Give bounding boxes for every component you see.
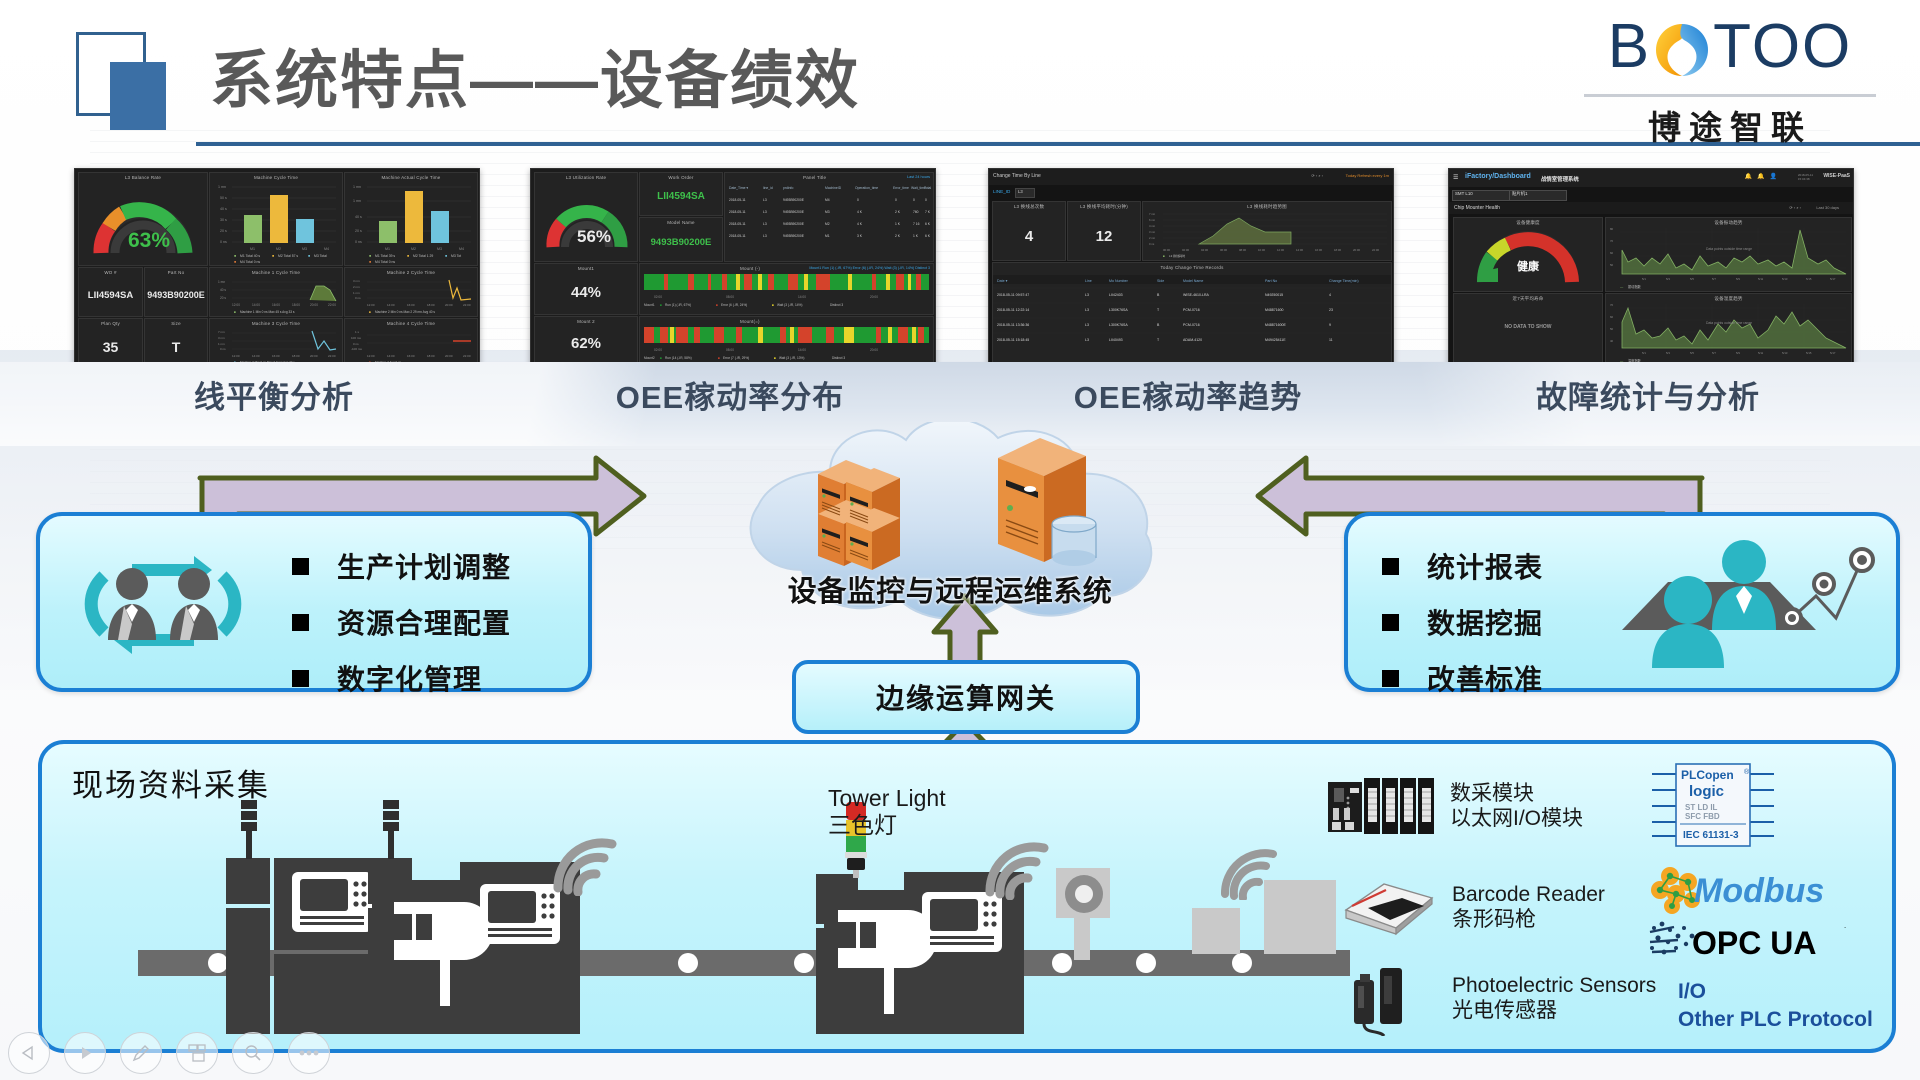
svg-text:14:00: 14:00 (1296, 248, 1303, 252)
svg-text:M2: M2 (825, 222, 830, 226)
svg-text:Machine 2 Min 0 ns Max 2 29 mn: Machine 2 Min 0 ns Max 2 29 mn Avg 40 s (375, 310, 435, 314)
svg-text:M3: M3 (302, 247, 307, 251)
svg-text:02:00: 02:00 (654, 348, 662, 352)
svg-text:12:00: 12:00 (367, 354, 375, 358)
dash2-table-range: Last 24 hours (907, 175, 930, 179)
svg-text:7 K: 7 K (925, 210, 931, 214)
svg-text:˙: ˙ (1844, 926, 1847, 936)
svg-text:14:00: 14:00 (387, 303, 395, 307)
svg-text:20:00: 20:00 (870, 295, 878, 299)
svg-text:0 ns: 0 ns (1149, 242, 1155, 246)
list-item: 统计报表 (1382, 546, 1543, 586)
svg-text:18:00: 18:00 (292, 303, 300, 307)
dash1-tile3-label: Plan Qty (79, 321, 142, 326)
cloud-system-title: 设备监控与远程运维系统 (700, 568, 1200, 610)
dash3-nav-icons: ⟳ ‹ ⌕ › (1311, 173, 1323, 178)
svg-text:■: ■ (716, 303, 718, 307)
dash1-tile3-value: 35 (79, 339, 142, 355)
device-barcode-reader-label-cn: 条形码枪 (1452, 907, 1605, 932)
dash1-gauge-value: 63% (85, 229, 213, 253)
svg-text:LII40493: LII40493 (1109, 338, 1123, 342)
svg-text:Mo Number: Mo Number (1109, 279, 1129, 283)
logo-chinese-name: 博途智联 (1570, 101, 1890, 149)
device-io-module-label-cn1: 数采模块 (1450, 781, 1583, 806)
svg-text:5/15: 5/15 (1806, 277, 1812, 281)
svg-text:20 s: 20 s (220, 296, 226, 300)
dash2-mount1-value: 44% (535, 284, 637, 301)
svg-text:■: ■ (369, 260, 371, 264)
svg-text:14:00: 14:00 (252, 303, 260, 307)
svg-text:760: 760 (913, 210, 919, 214)
header-decor-square-fill (110, 62, 166, 130)
svg-text:Run (14 (-IR, 58%): Run (14 (-IR, 58%) (665, 356, 692, 360)
dash2-tile2-label: Model Name (640, 220, 722, 225)
svg-text:18:00: 18:00 (427, 354, 435, 358)
svg-text:2 K: 2 K (895, 210, 901, 214)
logo-letters-too: TOO (1713, 12, 1852, 81)
dash1-tile4-value: T (145, 339, 207, 355)
svg-text:0: 0 (895, 198, 897, 202)
svg-text:■: ■ (772, 303, 774, 307)
next-slide-icon (76, 1044, 94, 1062)
hmi-screen-2-icon (480, 884, 560, 944)
svg-text:■: ■ (660, 356, 662, 360)
svg-text:16:00: 16:00 (1315, 248, 1322, 252)
dash3-tile2-label: L3 换线平均耗时(分钟) (1068, 204, 1140, 210)
cnc-machine-1-lower (226, 908, 270, 1034)
dash3-selector-line-id[interactable]: LINE_ID (993, 189, 1010, 194)
svg-text:prdinfo: prdinfo (783, 186, 793, 190)
dash4-panel-title: Chip Mounter Health (1454, 205, 1500, 211)
left-bullet-2: 资源合理配置 (337, 602, 511, 642)
svg-text:L3: L3 (1085, 308, 1089, 312)
svg-text:Part No: Part No (1265, 279, 1277, 283)
svg-text:5/9: 5/9 (1736, 277, 1740, 281)
opcua-wordmark: OPC UA (1692, 925, 1816, 961)
svg-text:M3 Tot: M3 Tot (451, 254, 461, 258)
workpiece-box-small (1192, 908, 1240, 954)
svg-text:22:00: 22:00 (463, 354, 471, 358)
right-bullet-1: 统计报表 (1427, 546, 1543, 586)
plcopen-logo-icon: PLCopen ® logic ST LD IL SFC FBD IEC 611… (1652, 762, 1774, 848)
svg-text:30 s: 30 s (220, 218, 227, 222)
svg-text:Date_Time ▾: Date_Time ▾ (729, 186, 748, 190)
svg-text:PLCopen: PLCopen (1681, 768, 1734, 782)
svg-text:M4: M4 (459, 247, 464, 251)
tower-light-label-cn: 三色灯 (828, 812, 946, 839)
server-rack-icon (810, 440, 930, 570)
bullet-square-icon (292, 558, 309, 575)
svg-text:Line: Line (1085, 279, 1092, 283)
dash3-title: Change Time By Line (993, 173, 1041, 179)
dash3-selector-l3[interactable]: L3 (1015, 188, 1035, 198)
dash4-subtile-value: NO DATA TO SHOW (1454, 324, 1602, 330)
edge-gateway-label: 边缘运算网关 (876, 677, 1056, 717)
pen-icon (131, 1043, 151, 1063)
conveyor-roller (1232, 953, 1252, 973)
prev-slide-button[interactable] (8, 1032, 50, 1074)
svg-text:2018-05-11 09:57:47: 2018-05-11 09:57:47 (997, 293, 1029, 297)
svg-text:18:00: 18:00 (1334, 248, 1341, 252)
dash2-mount2-value: 62% (535, 335, 637, 352)
svg-text:5/5: 5/5 (1690, 351, 1694, 355)
dash4-selector-line[interactable]: SMT L10 (1452, 190, 1510, 201)
dash2-mount1-chart-title: Mount (-) (740, 266, 760, 271)
svg-text:■: ■ (407, 254, 409, 258)
modbus-wordmark: Modbus (1694, 872, 1824, 910)
svg-text:40: 40 (1610, 339, 1614, 343)
svg-text:20 s: 20 s (355, 229, 362, 233)
svg-text:■: ■ (718, 356, 720, 360)
left-bullet-1: 生产计划调整 (337, 546, 511, 586)
svg-text:2018-05-11 15:18:45: 2018-05-11 15:18:45 (997, 338, 1029, 342)
svg-text:®: ® (1744, 768, 1750, 776)
dash2-tile1-value: LII4594SA (640, 191, 722, 202)
zoom-button[interactable] (232, 1032, 274, 1074)
list-item: 资源合理配置 (292, 602, 511, 642)
svg-text:■: ■ (774, 356, 776, 360)
svg-text:■: ■ (369, 310, 371, 314)
svg-text:20 s: 20 s (220, 229, 227, 233)
svg-text:SFC FBD: SFC FBD (1685, 812, 1720, 821)
svg-text:Error (7 (-IR, 29%): Error (7 (-IR, 29%) (723, 356, 749, 360)
dash4-nav-icons[interactable]: ⟳ ‹ ⌕ › (1789, 205, 1801, 210)
dash2-mount2-chart-title: Mount(=) (740, 319, 760, 324)
bullet-square-icon (1382, 558, 1399, 575)
svg-text:7 mn: 7 mn (218, 330, 225, 334)
svg-text:M1: M1 (825, 234, 830, 238)
svg-text:20:00: 20:00 (310, 303, 318, 307)
dash4-gauge-label: 健康 (1454, 258, 1602, 274)
svg-text:5/1: 5/1 (1642, 277, 1646, 281)
svg-text:4 K: 4 K (857, 210, 863, 214)
svg-text:6 K: 6 K (925, 234, 931, 238)
svg-text:40 s: 40 s (220, 288, 226, 292)
dashboard-thumbnail-oee-trend[interactable]: Change Time By Line ⟳ ‹ ⌕ › Today Refres… (988, 168, 1394, 368)
cnc-machine-1-base (274, 954, 382, 1034)
caption-oee-trend: OEE稼动率趋势 (988, 372, 1388, 417)
svg-text:60: 60 (1610, 251, 1614, 255)
dash1-tile4-label: Size (145, 321, 207, 326)
svg-text:M2 Total 57 s: M2 Total 57 s (278, 254, 298, 258)
dash4-selector-machine[interactable]: 贴片机1 (1509, 190, 1567, 201)
svg-text:Distinct 3: Distinct 3 (830, 303, 843, 307)
svg-text:IEC 61131-3: IEC 61131-3 (1683, 830, 1739, 841)
logo-divider (1584, 94, 1876, 97)
left-panel-bullet-list: 生产计划调整 资源合理配置 数字化管理 (292, 546, 511, 698)
svg-text:70: 70 (1610, 303, 1614, 307)
dashboard-thumbnail-oee-distribution[interactable]: L3 Utilization Rate 56% Work Order LII45… (530, 168, 936, 368)
svg-text:9493B90200E: 9493B90200E (783, 234, 805, 238)
svg-text:L3: L3 (763, 222, 767, 226)
dash2-tile2-value: 9493B90200E (640, 237, 722, 248)
svg-text:M3 Total: M3 Total (314, 254, 327, 258)
svg-text:1 mn: 1 mn (218, 280, 225, 284)
svg-text:M1 Total 39 s: M1 Total 39 s (375, 254, 395, 258)
svg-text:00:00: 00:00 (1163, 248, 1170, 252)
svg-text:5/13: 5/13 (1782, 351, 1788, 355)
svg-text:T: T (1157, 308, 1160, 312)
svg-text:04:00: 04:00 (1201, 248, 1208, 252)
svg-text:22:00: 22:00 (463, 303, 471, 307)
modbus-logo-icon: Modbus (1648, 862, 1848, 914)
svg-text:16:00: 16:00 (272, 303, 280, 307)
cnc-machine-1 (226, 858, 270, 904)
io-module-icon (1328, 778, 1434, 834)
pen-tool-button[interactable] (120, 1032, 162, 1074)
camera-post-stand (1074, 914, 1090, 960)
svg-text:2018-05-11 13:36:36: 2018-05-11 13:36:36 (997, 323, 1029, 327)
svg-text:3 mn: 3 mn (1149, 230, 1156, 234)
dashboard-thumbnail-line-balance[interactable]: L3 Balance Rate 63% Machine Cycle Time (74, 168, 480, 368)
hmi-screen-1-icon (292, 872, 372, 932)
more-options-button[interactable] (288, 1032, 330, 1074)
dash3-tile1-value: 4 (993, 228, 1065, 245)
svg-text:0 ns: 0 ns (353, 342, 359, 346)
analysts-chart-icon (1584, 526, 1884, 676)
dash4-app-title: iFactory/Dashboard (1465, 173, 1531, 180)
dash3-tile1-label: L3 换线总次数 (993, 204, 1065, 210)
svg-text:5/15: 5/15 (1806, 351, 1812, 355)
svg-text:12:00: 12:00 (232, 303, 240, 307)
svg-text:70: 70 (1610, 239, 1614, 243)
svg-text:M4: M4 (825, 198, 830, 202)
svg-text:16:00: 16:00 (407, 303, 415, 307)
next-slide-button[interactable] (64, 1032, 106, 1074)
hmi-screen-3-icon (922, 892, 1002, 952)
dash4-alert-icons[interactable]: 🔔🔔👤 (1745, 173, 1777, 180)
svg-text:1 mn: 1 mn (353, 185, 361, 189)
svg-text:50: 50 (1610, 327, 1614, 331)
svg-text:M2: M2 (411, 247, 416, 251)
svg-text:M3: M3 (825, 210, 830, 214)
svg-text:T: T (1157, 338, 1160, 342)
svg-text:9493B90200E: 9493B90200E (783, 198, 805, 202)
svg-text:■: ■ (1163, 254, 1165, 258)
svg-text:5/1: 5/1 (1642, 351, 1646, 355)
svg-text:20:00: 20:00 (445, 303, 453, 307)
svg-text:1 mn: 1 mn (218, 342, 225, 346)
svg-text:0 ns: 0 ns (220, 240, 227, 244)
svg-text:—: — (1620, 285, 1624, 289)
svg-text:■: ■ (234, 260, 236, 264)
svg-text:Machine 1 Min 0 ns Max 45 s Av: Machine 1 Min 0 ns Max 45 s Avg 33 s (240, 310, 295, 314)
field-collection-title: 现场资料采集 (72, 760, 270, 805)
svg-text:M4 Total 0 ns: M4 Total 0 ns (375, 260, 395, 264)
svg-text:22:00: 22:00 (1372, 248, 1379, 252)
svg-text:Model Name: Model Name (1183, 279, 1203, 283)
svg-text:11: 11 (1329, 338, 1333, 342)
conveyor-roller (1136, 953, 1156, 973)
page-title: 系统特点——设备绩效 (210, 30, 860, 121)
svg-text:■: ■ (369, 254, 371, 258)
svg-text:L3: L3 (763, 198, 767, 202)
right-bullet-2: 数据挖掘 (1427, 602, 1543, 642)
svg-text:2018-05-11: 2018-05-11 (729, 234, 746, 238)
svg-text:7 16: 7 16 (913, 222, 920, 226)
dash4-app-subtitle: 战情室管理系统 (1541, 175, 1579, 183)
slides-overview-button[interactable] (176, 1032, 218, 1074)
svg-text:■: ■ (308, 254, 310, 258)
conveyor-roller (208, 953, 228, 973)
svg-text:60: 60 (1610, 315, 1614, 319)
svg-text:Date ▾: Date ▾ (997, 279, 1008, 283)
svg-text:4 K: 4 K (857, 222, 863, 226)
svg-text:2018-05-11: 2018-05-11 (729, 222, 746, 226)
svg-text:WISE-4610-LRA: WISE-4610-LRA (1183, 293, 1210, 297)
svg-text:80: 80 (1610, 227, 1614, 231)
dash2-table-title: Panel Title (803, 175, 826, 180)
svg-text:6 mn: 6 mn (1149, 218, 1156, 222)
dash1-tile2-label: Part No (145, 270, 207, 275)
svg-text:40 s: 40 s (220, 207, 227, 211)
list-item: 数据挖掘 (1382, 602, 1543, 642)
right-bullet-3: 改善标准 (1427, 658, 1543, 698)
svg-text:20:00: 20:00 (1353, 248, 1360, 252)
conveyor-roller (1052, 953, 1072, 973)
svg-text:-100 ms: -100 ms (351, 347, 362, 351)
svg-text:0 ns: 0 ns (355, 296, 361, 300)
svg-text:5/3: 5/3 (1666, 277, 1670, 281)
svg-text:5/7: 5/7 (1712, 351, 1716, 355)
svg-text:2 K: 2 K (895, 234, 901, 238)
svg-text:M1 Total 40 s: M1 Total 40 s (240, 254, 260, 258)
svg-text:100 ms: 100 ms (351, 336, 361, 340)
logo-wordmark: B TOO (1570, 14, 1890, 92)
dash2-mount1-label: Mount1 (535, 266, 637, 271)
svg-text:08:00: 08:00 (726, 348, 734, 352)
bullet-square-icon (1382, 614, 1399, 631)
svg-text:2018-05-11: 2018-05-11 (729, 210, 746, 214)
svg-text:M1: M1 (250, 247, 255, 251)
svg-text:1 mn: 1 mn (353, 291, 360, 295)
logo-letter-b: B (1608, 14, 1651, 80)
device-photoelectric-sensor: Photoelectric Sensors 光电传感器 (1340, 960, 1656, 1036)
svg-text:Operation_time: Operation_time (855, 186, 878, 190)
svg-text:12:00: 12:00 (232, 354, 240, 358)
svg-text:18:00: 18:00 (292, 354, 300, 358)
more-options-icon (298, 1049, 320, 1057)
prev-slide-icon (20, 1044, 38, 1062)
dash3-tile2-value: 12 (1068, 228, 1140, 245)
svg-text:ST LD IL: ST LD IL (1685, 803, 1718, 812)
svg-text:20:00: 20:00 (870, 348, 878, 352)
svg-text:06:00: 06:00 (1220, 248, 1227, 252)
svg-text:1 mn: 1 mn (353, 199, 361, 203)
svg-text:14:00: 14:00 (798, 295, 806, 299)
svg-text:5/9: 5/9 (1736, 351, 1740, 355)
svg-text:5/17: 5/17 (1830, 277, 1836, 281)
dash2-mount2-label: Mount 2 (535, 319, 637, 324)
svg-text:14:00: 14:00 (252, 354, 260, 358)
svg-text:50: 50 (1610, 263, 1614, 267)
tower-light-label: Tower Light 三色灯 (828, 785, 946, 839)
svg-text:40 s: 40 s (355, 215, 362, 219)
svg-text:14:00: 14:00 (387, 354, 395, 358)
dash1-tile1-label: WO # (79, 270, 142, 275)
svg-text:Wait (3 (-IR, 14%): Wait (3 (-IR, 14%) (777, 303, 802, 307)
svg-text:5/17: 5/17 (1830, 351, 1836, 355)
svg-text:line_id: line_id (763, 186, 773, 190)
dash4-menu-icon[interactable]: ☰ (1453, 174, 1458, 181)
svg-text:M49425411E: M49425411E (1265, 338, 1286, 342)
svg-text:L3: L3 (763, 234, 767, 238)
dashboard-thumbnail-fault-analysis[interactable]: ☰ iFactory/Dashboard 战情室管理系统 🔔🔔👤 2018-05… (1448, 168, 1854, 368)
svg-text:3 mn: 3 mn (353, 279, 360, 283)
device-io-module: 数采模块 以太网I/O模块 (1328, 778, 1583, 834)
svg-text:L300K76SA: L300K76SA (1109, 308, 1128, 312)
svg-text:12:00: 12:00 (367, 303, 375, 307)
svg-text:16:00: 16:00 (272, 354, 280, 358)
dash1-tile2-value: 9493B90200E (145, 290, 207, 300)
svg-text:23: 23 (1329, 308, 1333, 312)
svg-text:0 ns: 0 ns (220, 347, 226, 351)
stack-light-1-icon (232, 800, 264, 860)
logo-orb-icon (1653, 21, 1711, 92)
dash2-mount1-range: Mount1 Run (1) (-IR, 67%) Error (6) (-IR… (809, 266, 930, 270)
svg-text:1 K: 1 K (895, 222, 901, 226)
svg-text:7 mn: 7 mn (1149, 212, 1156, 216)
svg-text:3 K: 3 K (857, 234, 863, 238)
device-barcode-reader: Barcode Reader 条形码枪 (1340, 878, 1605, 936)
list-item: 数字化管理 (292, 658, 511, 698)
svg-text:Run (1) (-IR, 67%): Run (1) (-IR, 67%) (665, 303, 691, 307)
svg-text:PCM-0716: PCM-0716 (1183, 308, 1200, 312)
svg-text:50 s: 50 s (220, 196, 227, 200)
svg-text:12:00: 12:00 (1277, 248, 1284, 252)
svg-text:L3: L3 (1085, 323, 1089, 327)
svg-text:08:00: 08:00 (1239, 248, 1246, 252)
svg-text:20:00: 20:00 (445, 354, 453, 358)
svg-text:N49250015: N49250015 (1265, 293, 1283, 297)
dash4-range-label[interactable]: Last 30 days (1816, 205, 1839, 210)
server-database-icon (994, 436, 1114, 576)
caption-line-balance: 线平衡分析 (74, 372, 474, 417)
svg-text:Error_time: Error_time (893, 186, 909, 190)
svg-text:18:00: 18:00 (427, 303, 435, 307)
bullet-square-icon (292, 614, 309, 631)
svg-text:08:00: 08:00 (726, 295, 734, 299)
svg-text:4 mn: 4 mn (1149, 224, 1156, 228)
tower-light-label-en: Tower Light (828, 785, 946, 812)
svg-text:1 K: 1 K (913, 234, 919, 238)
svg-text:■: ■ (234, 254, 236, 258)
other-protocol-line-2: Other PLC Protocol (1678, 1006, 1873, 1033)
caption-oee-distribution: OEE稼动率分布 (530, 372, 930, 417)
svg-text:Error (6 (-IR, 24%): Error (6 (-IR, 24%) (721, 303, 747, 307)
svg-text:MachineID: MachineID (825, 186, 842, 190)
list-item: 生产计划调整 (292, 546, 511, 586)
svg-text:PCM-0716: PCM-0716 (1183, 323, 1200, 327)
svg-text:M2 Total 1 29: M2 Total 1 29 (413, 254, 433, 258)
svg-text:M4 Total 0 ns: M4 Total 0 ns (240, 260, 260, 264)
svg-text:9: 9 (1329, 323, 1331, 327)
svg-text:Distinct 3: Distinct 3 (832, 356, 845, 360)
dash4-brand: WISE-PaaS (1823, 173, 1850, 179)
dash1-tile1-value: LII4594SA (79, 290, 142, 301)
barcode-reader-icon (1340, 878, 1436, 936)
edge-gateway-box[interactable]: 边缘运算网关 (792, 660, 1140, 734)
wifi-signal-icon (550, 834, 620, 896)
presentation-toolbar[interactable] (8, 1032, 330, 1074)
svg-text:6 K: 6 K (925, 222, 931, 226)
dash4-subtile-title: 近7天平均寿命 (1454, 296, 1602, 302)
svg-text:M1: M1 (385, 247, 390, 251)
conveyor-roller (678, 953, 698, 973)
photoelectric-sensor-icon (1340, 960, 1436, 1036)
svg-text:02:00: 02:00 (1182, 248, 1189, 252)
svg-text:B: B (1157, 293, 1160, 297)
